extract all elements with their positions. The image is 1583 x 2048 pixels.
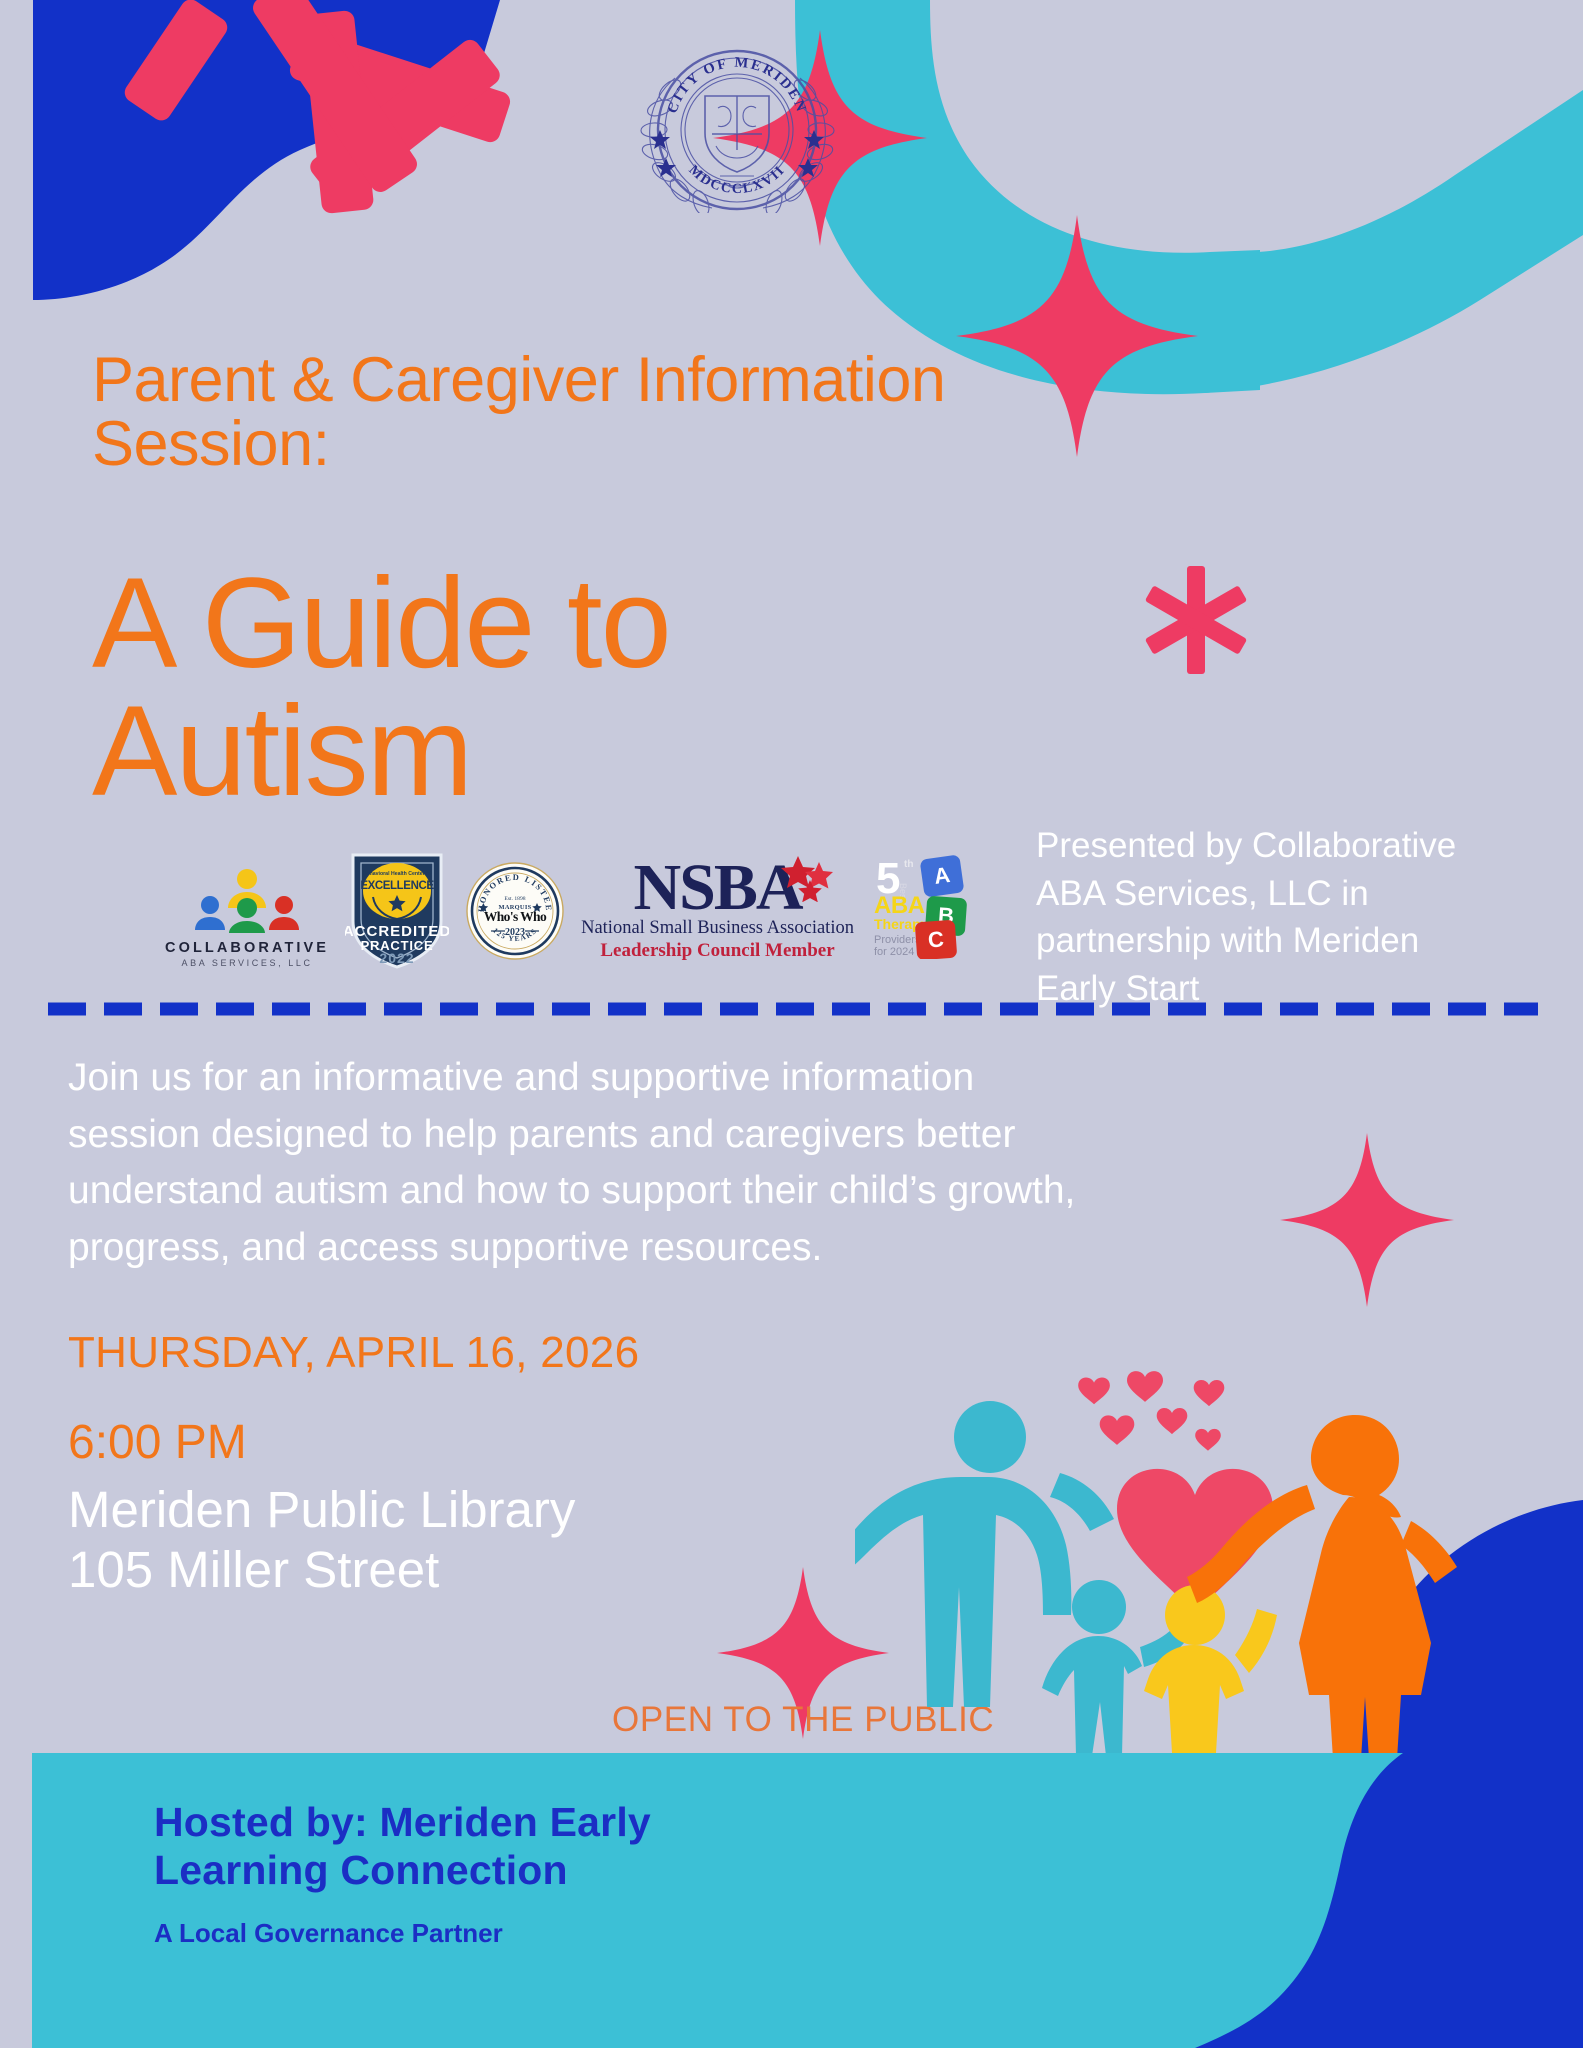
page-kicker: Parent & Caregiver Information Session: [92, 348, 1212, 477]
hosted-line-1: Hosted by: Meriden Early [154, 1798, 651, 1846]
family-illustration [855, 1325, 1475, 1765]
pink-asterisk [1145, 566, 1248, 674]
logo-aba-therapy-providers: 5 th Best ABA Therapy Providers for 2024… [870, 851, 968, 964]
adult-figure-orange [1187, 1415, 1457, 1759]
teal-arc-top-right [795, 0, 1260, 394]
headline-line-2: Autism [92, 688, 992, 816]
kicker-line-2: Session: [92, 412, 1212, 476]
accredited-shield-icon: Behavioral Health Center of EXCELLENCE A… [345, 849, 449, 969]
svg-text:C: C [927, 926, 945, 952]
shield-main-text: EXCELLENCE [360, 880, 434, 892]
headline-line-1: A Guide to [92, 560, 992, 688]
presented-by-text: Presented by Collaborative ABA Services,… [1036, 822, 1506, 1012]
page-title: A Guide to Autism [92, 560, 992, 816]
footer-band: Hosted by: Meriden Early Learning Connec… [32, 1753, 1583, 2048]
aba-blocks-icon: 5 th Best ABA Therapy Providers for 2024… [870, 851, 968, 959]
city-of-meriden-seal: CITY OF MERIDEN MDCCCLXVII [620, 38, 855, 213]
logo-honored-listee: HONORED LISTEE 125 YEARS Est. 1898 MARQU… [465, 861, 565, 966]
aba-rank-suffix: th [904, 859, 913, 870]
sparkle-star-mid-right [1280, 1133, 1454, 1307]
kicker-line-1: Parent & Caregiver Information [92, 348, 1212, 412]
venue-address: 105 Miller Street [68, 1540, 575, 1600]
shield-year: 2022 [380, 950, 415, 966]
aba-block-a: A [920, 854, 965, 897]
child-figure-yellow [1144, 1585, 1277, 1765]
pink-starburst [121, 0, 513, 214]
aba-word: ABA [874, 892, 925, 919]
hosted-line-2: Learning Connection [154, 1846, 651, 1894]
body-paragraph: Join us for an informative and supportiv… [68, 1050, 1098, 1276]
listee-year: 2023 [505, 927, 525, 938]
blue-blob-top-left [33, 0, 500, 300]
logo-collaborative-aba: COLLABORATIVE ABA SERVICES, LLC [165, 867, 329, 968]
event-venue: Meriden Public Library 105 Miller Street [68, 1480, 575, 1599]
listee-brand: Who's Who [484, 909, 547, 924]
footer-blue-wave [1103, 1753, 1583, 2048]
honored-listee-seal-icon: HONORED LISTEE 125 YEARS Est. 1898 MARQU… [465, 861, 565, 961]
aba-year: for 2024 [874, 946, 914, 958]
hosted-by-text: Hosted by: Meriden Early Learning Connec… [154, 1798, 651, 1895]
autism-info-session-flyer: CITY OF MERIDEN MDCCCLXVII Parent & Care… [0, 0, 1583, 2048]
event-time: 6:00 PM [68, 1415, 247, 1470]
collaborative-title: COLLABORATIVE [165, 940, 329, 956]
dashed-divider [48, 1002, 1538, 1016]
teal-arc-tail [1205, 90, 1583, 393]
aba-providers: Providers [874, 934, 921, 946]
collaborative-people-icon [195, 867, 299, 933]
nsba-line-2: Leadership Council Member [581, 940, 854, 962]
aba-block-c: C [915, 920, 958, 959]
nsba-stars-icon [776, 854, 836, 902]
accreditation-logo-strip: COLLABORATIVE ABA SERVICES, LLC Behavior… [165, 848, 968, 968]
logo-accredited-practice: Behavioral Health Center of EXCELLENCE A… [345, 849, 449, 974]
collaborative-subtitle: ABA SERVICES, LLC [165, 958, 329, 968]
listee-est: Est. 1898 [505, 896, 526, 902]
logo-nsba: NSBA National Small Business Association… [581, 858, 854, 962]
hosted-subtitle: A Local Governance Partner [154, 1918, 503, 1949]
shield-arc-text: Behavioral Health Center of [363, 871, 431, 877]
venue-name: Meriden Public Library [68, 1480, 575, 1540]
floating-hearts [1078, 1371, 1224, 1451]
event-date: THURSDAY, APRIL 16, 2026 [68, 1328, 639, 1378]
